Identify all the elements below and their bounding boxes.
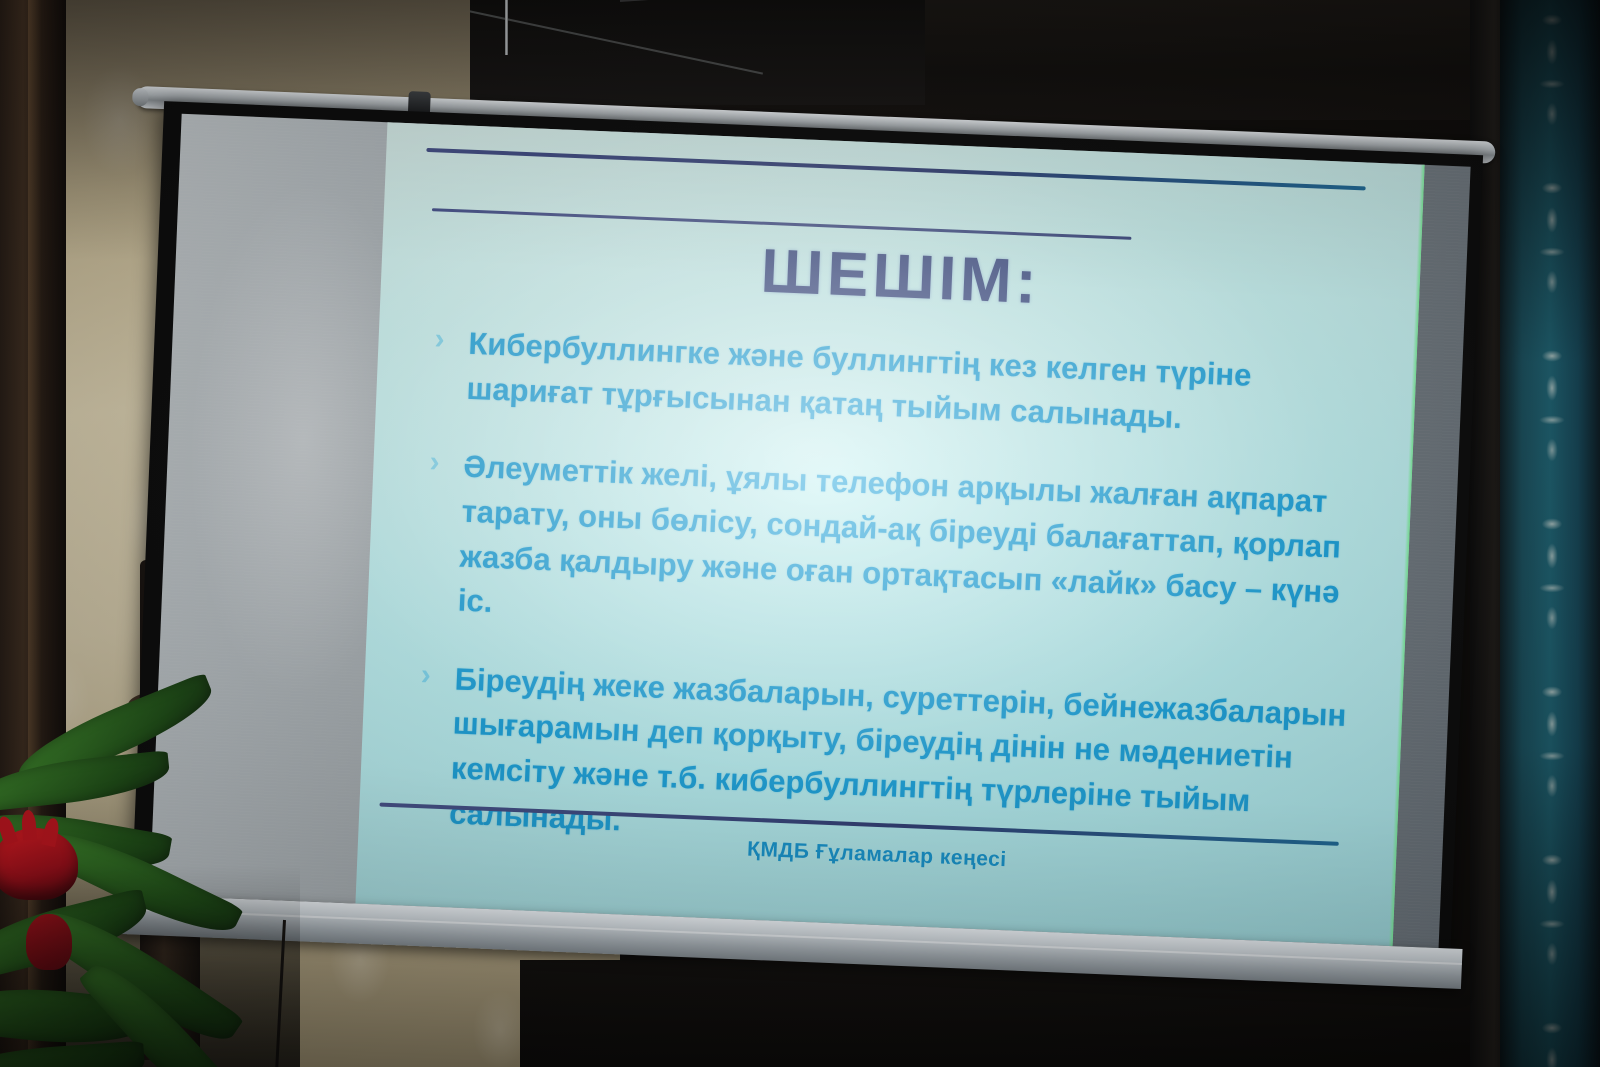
potted-plant <box>0 700 300 1067</box>
projected-slide-area: ШЕШІМ: › Кибербуллингке және буллингтің … <box>355 122 1424 946</box>
presentation-slide: ШЕШІМ: › Кибербуллингке және буллингтің … <box>355 122 1424 946</box>
projector-screen-assembly[interactable]: ШЕШІМ: › Кибербуллингке және буллингтің … <box>101 8 1509 1023</box>
chevron-right-icon: › <box>420 660 455 691</box>
list-item: › Әлеуметтік желі, ұялы телефон арқылы ж… <box>423 444 1360 660</box>
plant-leaf <box>0 1041 146 1067</box>
bullet-text: Әлеуметтік желі, ұялы телефон арқылы жал… <box>457 445 1360 660</box>
list-item: › Кибербуллингке және буллингтің кез кел… <box>432 320 1365 447</box>
photo-scene: ШЕШІМ: › Кибербуллингке және буллингтің … <box>0 0 1600 1067</box>
bullet-text: Кибербуллингке және буллингтің кез келге… <box>466 322 1365 448</box>
chevron-right-icon: › <box>429 448 464 479</box>
chevron-right-icon: › <box>434 324 469 355</box>
curtain-shading <box>1500 0 1600 1067</box>
red-flower-secondary <box>26 914 72 970</box>
slide-title: ШЕШІМ: <box>381 220 1421 334</box>
slide-bullet-list: › Кибербуллингке және буллингтің кез кел… <box>413 320 1365 906</box>
